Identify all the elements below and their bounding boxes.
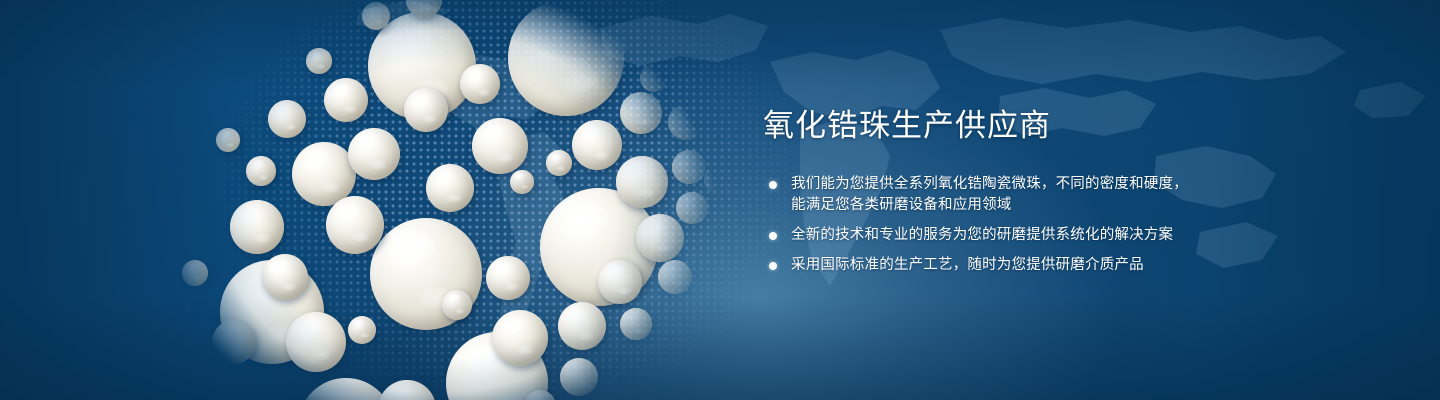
list-item: 我们能为您提供全系列氧化锆陶瓷微珠，不同的密度和硬度， 能满足您各类研磨设备和应…	[763, 174, 1233, 216]
list-item-line: 采用国际标准的生产工艺，随时为您提供研磨介质产品	[791, 255, 1233, 276]
bullet-dot-icon	[769, 232, 777, 240]
list-item-line: 全新的技术和专业的服务为您的研磨提供系统化的解决方案	[791, 225, 1233, 246]
page-title: 氧化锆珠生产供应商	[763, 108, 1233, 144]
list-item: 采用国际标准的生产工艺，随时为您提供研磨介质产品	[763, 255, 1233, 276]
banner-text-block: 氧化锆珠生产供应商 我们能为您提供全系列氧化锆陶瓷微珠，不同的密度和硬度， 能满…	[763, 108, 1233, 276]
feature-list: 我们能为您提供全系列氧化锆陶瓷微珠，不同的密度和硬度， 能满足您各类研磨设备和应…	[763, 174, 1233, 276]
zirconia-beads-image	[120, 0, 760, 400]
hero-banner: 氧化锆珠生产供应商 我们能为您提供全系列氧化锆陶瓷微珠，不同的密度和硬度， 能满…	[0, 0, 1440, 400]
list-item-line: 能满足您各类研磨设备和应用领域	[791, 195, 1233, 216]
bullet-dot-icon	[769, 262, 777, 270]
list-item-line: 我们能为您提供全系列氧化锆陶瓷微珠，不同的密度和硬度，	[791, 174, 1233, 195]
list-item: 全新的技术和专业的服务为您的研磨提供系统化的解决方案	[763, 225, 1233, 246]
bullet-dot-icon	[769, 181, 777, 189]
